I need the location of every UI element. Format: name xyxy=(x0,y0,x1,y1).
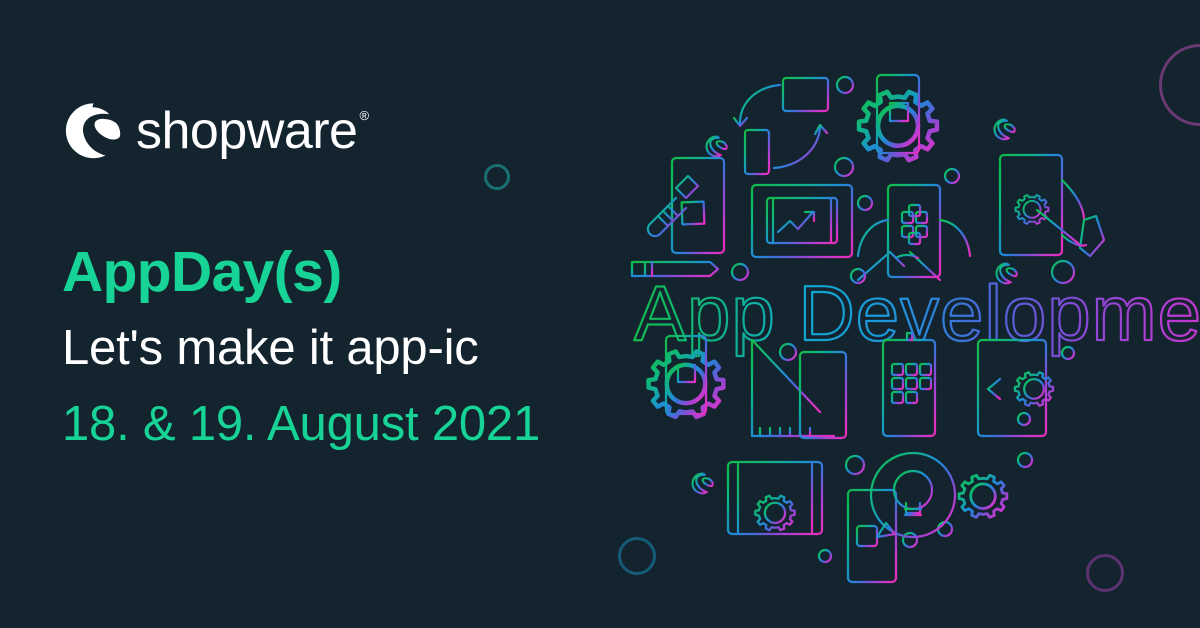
phone-gear-icon xyxy=(859,75,937,160)
registered-trademark-symbol: ® xyxy=(359,109,369,122)
tablet-gear-icon xyxy=(728,462,822,534)
smartphone-sync-icon xyxy=(745,130,769,174)
left-content-column: shopware ® AppDay(s) Let's make it app-i… xyxy=(62,0,602,628)
phone-lightbulb-icon xyxy=(848,453,955,582)
illustration-word: App Development xyxy=(634,269,1200,357)
page-subtitle: Let's make it app-ic xyxy=(62,322,479,376)
desktop-chart-icon xyxy=(752,185,852,277)
shopware-mark-icon-2 xyxy=(995,120,1015,140)
hands-tablet-icon xyxy=(858,185,970,280)
shopware-wordmark: shopware ® xyxy=(136,105,369,157)
shopware-mark-icon-1 xyxy=(707,137,727,157)
app-development-illustration: App Development xyxy=(600,40,1160,580)
page-title: AppDay(s) xyxy=(62,242,342,302)
shopware-logo: shopware ® xyxy=(64,100,369,162)
monitor-icon xyxy=(783,78,828,123)
shopware-wordmark-text: shopware xyxy=(136,105,357,157)
shopware-mark-icon xyxy=(64,102,122,160)
gear-icon xyxy=(959,475,1007,517)
banner-root: shopware ® AppDay(s) Let's make it app-i… xyxy=(0,0,1200,628)
phone-screwdriver-icon xyxy=(648,158,724,253)
event-date: 18. & 19. August 2021 xyxy=(62,398,540,452)
sync-arrow-up-icon xyxy=(774,125,827,168)
shopware-mark-icon-4 xyxy=(693,474,713,494)
sync-arrow-down-icon xyxy=(734,85,780,126)
hand-phone-gear-icon xyxy=(1000,155,1104,256)
deco-circle-purple-big xyxy=(1159,44,1200,126)
